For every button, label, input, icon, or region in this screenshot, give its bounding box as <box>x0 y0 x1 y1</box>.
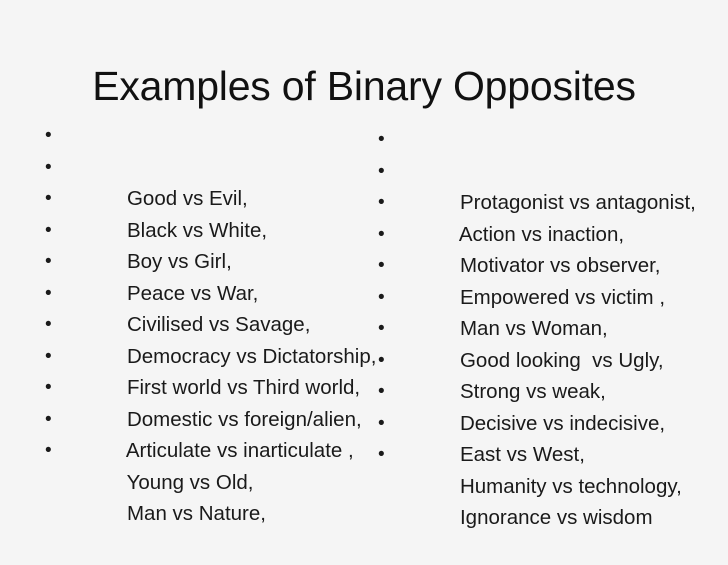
list-item: • Young vs Old, <box>38 404 358 436</box>
bullet-icon: • <box>45 120 52 152</box>
right-column: • Protagonist vs antagonist, • Action vs… <box>371 124 711 471</box>
list-item-label: Ignorance vs wisdom <box>460 506 653 529</box>
bullet-icon: • <box>378 156 385 188</box>
right-bullet-list: • Protagonist vs antagonist, • Action vs… <box>371 124 711 471</box>
list-item: • Civilised vs Savage, <box>38 246 358 278</box>
bullet-icon: • <box>45 372 52 404</box>
bullet-icon: • <box>45 183 52 215</box>
list-item: • Empowered vs victim , <box>371 219 711 251</box>
list-item: • Motivator vs observer, <box>371 187 711 219</box>
bullet-icon: • <box>45 278 52 310</box>
list-item-label: Young vs Old, <box>127 471 254 494</box>
bullet-icon: • <box>45 309 52 341</box>
list-item: • Peace vs War, <box>38 215 358 247</box>
list-item: • Articulate vs inarticulate , <box>38 372 358 404</box>
list-item-label: Humanity vs technology, <box>460 475 682 498</box>
bullet-icon: • <box>378 376 385 408</box>
list-item-label: Man vs Nature, <box>127 502 266 525</box>
bullet-icon: • <box>45 215 52 247</box>
left-column: • Good vs Evil, • Black vs White, • Boy … <box>38 120 358 467</box>
list-item: • Good looking vs Ugly, <box>371 282 711 314</box>
list-item: • Strong vs weak, <box>371 313 711 345</box>
list-item: • Man vs Woman, <box>371 250 711 282</box>
list-item: • Man vs Nature, <box>38 435 358 467</box>
bullet-icon: • <box>378 313 385 345</box>
bullet-icon: • <box>45 246 52 278</box>
list-item: • Democracy vs Dictatorship, <box>38 278 358 310</box>
bullet-icon: • <box>45 152 52 184</box>
list-item: • Protagonist vs antagonist, <box>371 124 711 156</box>
content-columns: • Good vs Evil, • Black vs White, • Boy … <box>0 120 728 520</box>
bullet-icon: • <box>378 439 385 471</box>
bullet-icon: • <box>378 219 385 251</box>
bullet-icon: • <box>378 345 385 377</box>
list-item: • Decisive vs indecisive, <box>371 345 711 377</box>
list-item: • East vs West, <box>371 376 711 408</box>
list-item: • First world vs Third world, <box>38 309 358 341</box>
bullet-icon: • <box>378 124 385 156</box>
bullet-icon: • <box>378 408 385 440</box>
list-item: • Humanity vs technology, <box>371 408 711 440</box>
list-item: • Black vs White, <box>38 152 358 184</box>
bullet-icon: • <box>45 404 52 436</box>
list-item: • Domestic vs foreign/alien, <box>38 341 358 373</box>
slide-canvas: Examples of Binary Opposites • Good vs E… <box>0 0 728 546</box>
list-item: • Boy vs Girl, <box>38 183 358 215</box>
list-item: • Action vs inaction, <box>371 156 711 188</box>
page-title: Examples of Binary Opposites <box>0 63 728 110</box>
bullet-icon: • <box>378 250 385 282</box>
bullet-icon: • <box>45 435 52 467</box>
bullet-icon: • <box>378 282 385 314</box>
left-bullet-list: • Good vs Evil, • Black vs White, • Boy … <box>38 120 358 467</box>
bullet-icon: • <box>378 187 385 219</box>
list-item: • Ignorance vs wisdom <box>371 439 711 471</box>
list-item: • Good vs Evil, <box>38 120 358 152</box>
bullet-icon: • <box>45 341 52 373</box>
